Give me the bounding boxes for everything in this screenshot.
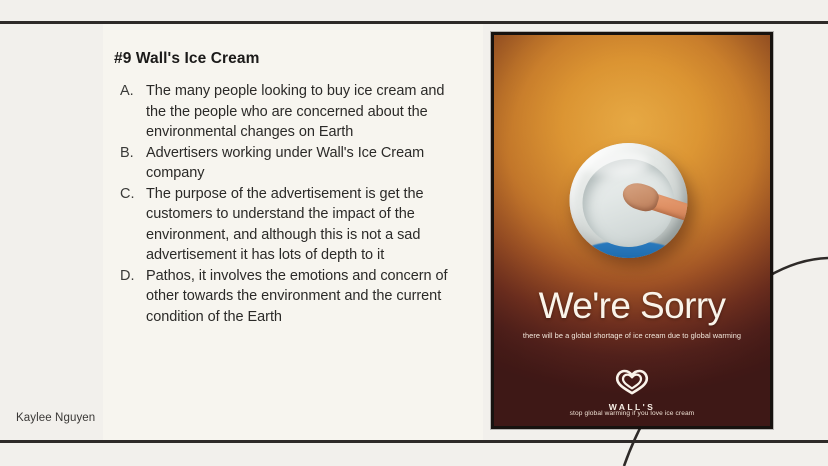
slide-canvas: #9 Wall's Ice Cream A. The many people l… [0,0,828,466]
poster-headline: We're Sorry [494,285,770,327]
list-item-marker: A. [114,81,146,102]
tub-rim-highlight [580,148,650,176]
list-item: A. The many people looking to buy ice cr… [114,81,464,143]
list-item-text: Advertisers working under Wall's Ice Cre… [146,143,464,184]
list-item: C. The purpose of the advertisement is g… [114,184,464,266]
poster-subhead: there will be a global shortage of ice c… [494,331,770,340]
poster-footer-tagline: stop global warming if you love ice crea… [494,410,770,417]
list-item-text: The many people looking to buy ice cream… [146,81,464,143]
bottom-divider-rule [0,440,828,443]
empty-ice-cream-tub-icon [570,143,695,265]
advertisement-poster: We're Sorry there will be a global short… [491,32,773,429]
list-item-text: Pathos, it involves the emotions and con… [146,266,464,328]
list-item: B. Advertisers working under Wall's Ice … [114,143,464,184]
brand-logo: WALL'S [494,369,770,415]
walls-heart-icon [615,369,649,395]
list-item: D. Pathos, it involves the emotions and … [114,266,464,328]
top-divider-rule [0,21,828,24]
answer-list: A. The many people looking to buy ice cr… [114,81,464,327]
list-item-marker: D. [114,266,146,287]
page-title: #9 Wall's Ice Cream [114,50,464,68]
list-item-marker: C. [114,184,146,205]
poster-background-gradient: We're Sorry there will be a global short… [494,35,770,426]
list-item-text: The purpose of the advertisement is get … [146,184,464,266]
list-item-marker: B. [114,143,146,164]
answers-column: #9 Wall's Ice Cream A. The many people l… [114,50,464,327]
tub-body [570,143,688,258]
author-name: Kaylee Nguyen [16,412,95,424]
